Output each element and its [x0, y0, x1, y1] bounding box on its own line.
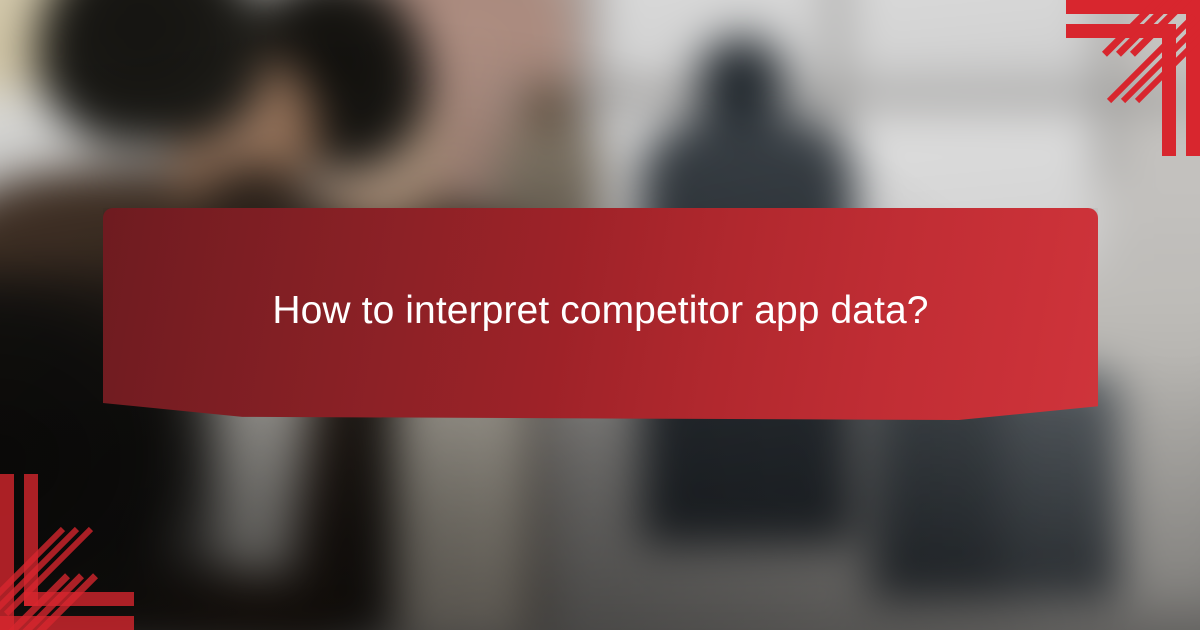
page-title: How to interpret competitor app data?	[232, 288, 968, 335]
person-silhouette-background	[695, 35, 787, 127]
title-banner: How to interpret competitor app data?	[103, 208, 1098, 420]
person-silhouette-foreground	[36, 0, 268, 145]
window-mullion	[500, 90, 1200, 106]
window-pane	[844, 0, 1098, 88]
social-card-canvas: How to interpret competitor app data?	[0, 0, 1200, 630]
person-silhouette-background	[520, 80, 580, 135]
